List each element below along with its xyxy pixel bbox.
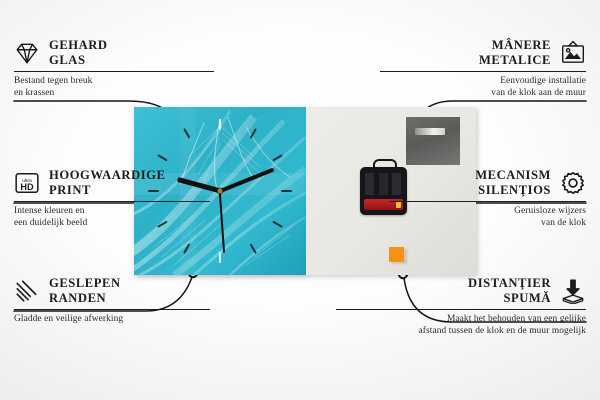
ultra-hd-icon: ultra HD bbox=[14, 170, 40, 196]
callout-subtitle-line1: Bestand tegen breuk bbox=[14, 72, 214, 88]
infographic-canvas: GEHARD GLAS Bestand tegen breuk en krass… bbox=[0, 0, 600, 400]
foam-spacer-arrow-icon bbox=[560, 278, 586, 304]
callout-title-line1: MECANISM bbox=[475, 168, 551, 183]
clock-tick-12 bbox=[219, 119, 221, 130]
callout-hoogwaardige-print: ultra HD HOOGWAARDIGE PRINT Intense kleu… bbox=[14, 168, 210, 230]
ultra-hd-large-text: HD bbox=[20, 182, 34, 192]
callout-title-line2: SILENŢIOS bbox=[475, 183, 551, 198]
diamond-icon bbox=[14, 40, 40, 66]
callout-subtitle-line2: van de klok aan de muur bbox=[380, 87, 586, 100]
callout-title-line2: METALICE bbox=[479, 53, 551, 68]
clock-tick-3 bbox=[281, 190, 292, 192]
callout-title-line2: SPUMĂ bbox=[468, 291, 551, 306]
hanger-slot bbox=[415, 128, 445, 135]
clock-tick-6 bbox=[219, 252, 221, 263]
callout-title-line2: PRINT bbox=[49, 183, 165, 198]
callout-distantier-spuma: DISTANŢIER SPUMĂ Maakt het behouden van … bbox=[336, 276, 586, 338]
callout-geslepen-randen: GESLEPEN RANDEN Gladde en veilige afwerk… bbox=[14, 276, 210, 325]
callout-subtitle-line1: Maakt het behouden van een gelijke bbox=[336, 310, 586, 326]
callout-mecanism-silentios: MECANISM SILENŢIOS Geruisloze wijzers va… bbox=[390, 168, 586, 230]
callout-subtitle-line2: van de klok bbox=[390, 217, 586, 230]
callout-subtitle-line2: afstand tussen de klok en de muur mogeli… bbox=[336, 325, 586, 338]
callout-title-line1: DISTANŢIER bbox=[468, 276, 551, 291]
bevelled-edges-icon bbox=[14, 278, 40, 304]
callout-subtitle-line1: Eenvoudige installatie bbox=[380, 72, 586, 88]
callout-title-line2: RANDEN bbox=[49, 291, 121, 306]
foam-spacer bbox=[389, 247, 404, 262]
gear-icon bbox=[560, 170, 586, 196]
callout-title-line1: MÂNERE bbox=[479, 38, 551, 53]
callout-subtitle-line2: en krassen bbox=[14, 87, 214, 100]
callout-subtitle-line1: Gladde en veilige afwerking bbox=[14, 310, 210, 326]
callout-manere-metalice: MÂNERE METALICE Eenvoudige installatie v… bbox=[380, 38, 586, 100]
callout-subtitle-line1: Intense kleuren en bbox=[14, 202, 210, 218]
callout-subtitle-line2: een duidelijk beeld bbox=[14, 217, 210, 230]
callout-title-line1: GESLEPEN bbox=[49, 276, 121, 291]
callout-gehard-glas: GEHARD GLAS Bestand tegen breuk en krass… bbox=[14, 38, 214, 100]
wall-hanger-frame-icon bbox=[560, 40, 586, 66]
callout-title-line1: GEHARD bbox=[49, 38, 108, 53]
callout-title-line1: HOOGWAARDIGE bbox=[49, 168, 165, 183]
callout-subtitle-line1: Geruisloze wijzers bbox=[390, 202, 586, 218]
clock-center-hub bbox=[218, 189, 223, 194]
metal-hanger-plate bbox=[406, 117, 460, 165]
callout-title-line2: GLAS bbox=[49, 53, 108, 68]
